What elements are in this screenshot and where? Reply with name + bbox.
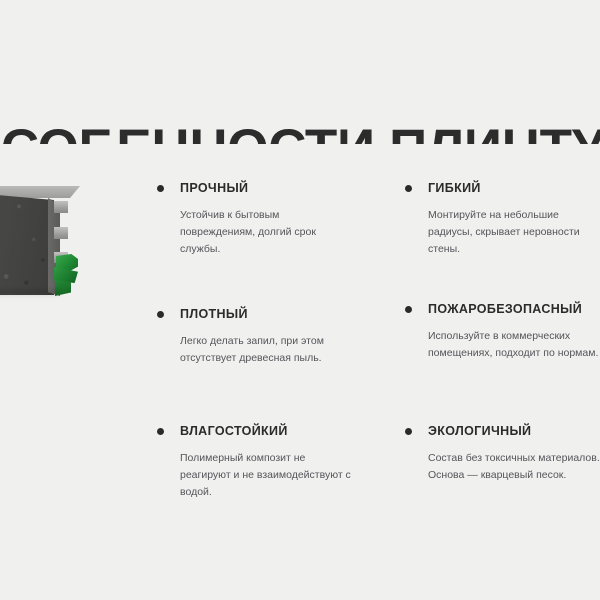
feature-heading: ПОЖАРОБЕЗОПАСНЫЙ	[403, 301, 600, 319]
feature-description: Состав без токсичных материалов. Основа …	[428, 450, 600, 484]
feature-item-prochnyy: ПРОЧНЫЙ Устойчив к бытовым повреждениям,…	[155, 180, 355, 258]
feature-title: ПОЖАРОБЕЗОПАСНЫЙ	[428, 301, 600, 317]
feature-item-gibkiy: ГИБКИЙ Монтируйте на небольшие радиусы, …	[403, 180, 600, 258]
baseboard-top-bevel	[0, 186, 80, 198]
bullet-icon	[405, 428, 412, 435]
page-title: ОСОБЕННОСТИ ПЛИНТУСА	[0, 118, 600, 145]
bullet-icon	[157, 428, 164, 435]
feature-item-pozharobezopasnyy: ПОЖАРОБЕЗОПАСНЫЙ Используйте в коммерчес…	[403, 301, 600, 362]
product-image-baseboard	[0, 186, 112, 306]
bullet-icon	[157, 185, 164, 192]
page-title-container: ОСОБЕННОСТИ ПЛИНТУСА	[0, 82, 600, 144]
feature-description: Полимерный композит не реагируют и не вз…	[180, 450, 355, 501]
slide-root: ОСОБЕННОСТИ ПЛИНТУСА ПРОЧНЫЙ Устойчив к …	[0, 0, 600, 600]
baseboard-drop-shadow	[0, 290, 60, 297]
feature-title: ПРОЧНЫЙ	[180, 180, 355, 196]
feature-description: Легко делать запил, при этом отсутствует…	[180, 333, 355, 367]
feature-heading: ВЛАГОСТОЙКИЙ	[155, 423, 355, 441]
baseboard-rib-top	[54, 201, 68, 213]
bullet-icon	[405, 185, 412, 192]
feature-title: ГИБКИЙ	[428, 180, 600, 196]
feature-title: ПЛОТНЫЙ	[180, 306, 355, 322]
baseboard-rib-middle	[54, 227, 68, 239]
feature-item-vlagostoykiy: ВЛАГОСТОЙКИЙ Полимерный композит не реаг…	[155, 423, 355, 501]
feature-title: ВЛАГОСТОЙКИЙ	[180, 423, 355, 439]
bullet-icon	[157, 311, 164, 318]
feature-heading: ПРОЧНЫЙ	[155, 180, 355, 198]
bullet-icon	[405, 306, 412, 313]
feature-item-ekologichnyy: ЭКОЛОГИЧНЫЙ Состав без токсичных материа…	[403, 423, 600, 484]
feature-description: Устойчив к бытовым повреждениям, долгий …	[180, 207, 355, 258]
feature-description: Монтируйте на небольшие радиусы, скрывае…	[428, 207, 600, 258]
feature-title: ЭКОЛОГИЧНЫЙ	[428, 423, 600, 439]
feature-heading: ПЛОТНЫЙ	[155, 306, 355, 324]
feature-item-plotnyy: ПЛОТНЫЙ Легко делать запил, при этом отс…	[155, 306, 355, 367]
feature-heading: ГИБКИЙ	[403, 180, 600, 198]
baseboard-front-face	[0, 192, 54, 295]
feature-heading: ЭКОЛОГИЧНЫЙ	[403, 423, 600, 441]
feature-description: Используйте в коммерческих помещениях, п…	[428, 328, 600, 362]
